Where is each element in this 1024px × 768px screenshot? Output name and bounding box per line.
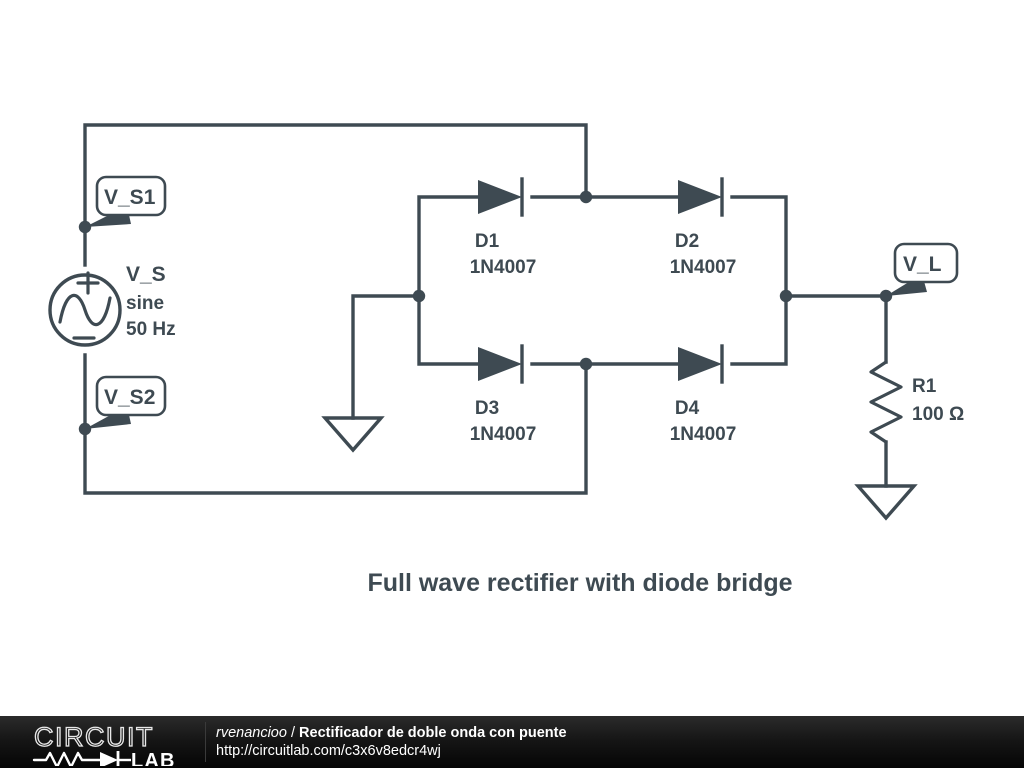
ground-triangle-icon	[325, 418, 381, 450]
junction-dot-vs2	[79, 423, 91, 435]
source-waveform-label: sine	[126, 293, 164, 314]
junction-dot-bottom	[580, 358, 592, 370]
logo-wordmark-lab: LAB	[131, 750, 176, 766]
diode-d4[interactable]	[678, 346, 722, 382]
footer-url[interactable]: http://circuitlab.com/c3x6v8edcr4wj	[216, 742, 567, 760]
ac-voltage-source[interactable]	[50, 273, 120, 345]
wire-bridge-to-ground	[353, 296, 419, 418]
junction-dot-top	[580, 191, 592, 203]
wire-bridge-bottom-left	[419, 296, 478, 364]
circuit-schematic: .wire { stroke:#3e4a52; stroke-width:3.4…	[0, 0, 1024, 716]
junction-dot-vs1	[79, 221, 91, 233]
diode-triangle-icon	[478, 180, 522, 214]
diagram-title: Full wave rectifier with diode bridge	[367, 569, 792, 597]
ground-load[interactable]	[858, 486, 914, 518]
junction-dot-bridge-left	[413, 290, 425, 302]
diode-d4-ref: D4	[675, 398, 700, 419]
resistor-r1[interactable]	[871, 296, 901, 486]
wire-bridge	[353, 197, 886, 418]
node-label-vs2[interactable]: V_S2	[85, 377, 165, 429]
node-label-vl[interactable]: V_L	[886, 244, 957, 296]
logo-wordmark-circuit: CIRCUIT	[34, 722, 154, 752]
diode-d3-part: 1N4007	[470, 424, 537, 445]
diode-d1[interactable]	[478, 179, 522, 215]
footer-divider	[205, 722, 206, 762]
diode-triangle-icon	[678, 180, 722, 214]
footer-bar: CIRCUIT LAB rvenancioo / Rectificador de…	[0, 716, 1024, 768]
node-label-vs1[interactable]: V_S1	[85, 177, 165, 227]
wire-bridge-top-left	[419, 197, 478, 296]
logo-diode-icon	[100, 751, 131, 766]
footer-title-line: rvenancioo / Rectificador de doble onda …	[216, 724, 567, 742]
diode-d3[interactable]	[478, 346, 522, 382]
ground-triangle-icon	[858, 486, 914, 518]
wire-d4-to-rightnode	[732, 296, 786, 364]
footer-text-block: rvenancioo / Rectificador de doble onda …	[216, 724, 567, 761]
junction-dot-bridge-right	[780, 290, 792, 302]
diode-d2-ref: D2	[675, 231, 699, 252]
resistor-zigzag-icon	[871, 362, 901, 442]
node-label-text: V_S1	[104, 186, 156, 209]
diode-triangle-icon	[478, 347, 522, 381]
diode-d3-ref: D3	[475, 398, 499, 419]
source-name-label: V_S	[126, 263, 166, 286]
footer-separator: /	[287, 725, 299, 741]
footer-project-title: Rectificador de doble onda con puente	[299, 725, 566, 741]
wire-d2-to-rightnode	[732, 197, 786, 296]
ground-bridge-left[interactable]	[325, 418, 381, 450]
diode-d4-part: 1N4007	[670, 424, 737, 445]
node-label-text: V_L	[903, 253, 942, 276]
circuitlab-logo-svg: CIRCUIT LAB	[32, 720, 197, 766]
resistor-r1-value: 100 Ω	[912, 404, 964, 425]
diode-d2[interactable]	[678, 179, 722, 215]
source-frequency-label: 50 Hz	[126, 319, 176, 340]
diode-d2-part: 1N4007	[670, 257, 737, 278]
schematic-page: .wire { stroke:#3e4a52; stroke-width:3.4…	[0, 0, 1024, 768]
logo-resistor-icon	[34, 753, 100, 766]
diode-d1-ref: D1	[475, 231, 500, 252]
footer-author[interactable]: rvenancioo	[216, 725, 287, 741]
diode-triangle-icon	[678, 347, 722, 381]
circuitlab-logo[interactable]: CIRCUIT LAB	[32, 720, 197, 766]
diode-d1-part: 1N4007	[470, 257, 537, 278]
node-label-text: V_S2	[104, 386, 155, 409]
resistor-r1-ref: R1	[912, 376, 937, 397]
